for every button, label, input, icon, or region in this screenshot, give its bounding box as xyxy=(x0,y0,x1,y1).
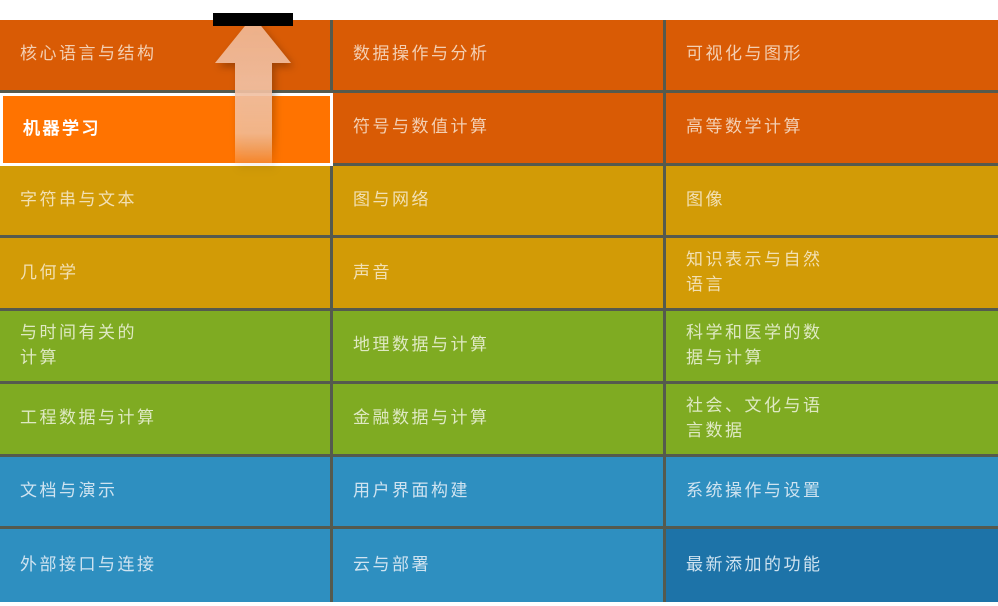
category-cell[interactable]: 机器学习 xyxy=(0,93,333,166)
category-label: 地理数据与计算 xyxy=(353,333,490,358)
screenshot-root: 核心语言与结构数据操作与分析可视化与图形机器学习符号与数值计算高等数学计算字符串… xyxy=(0,0,998,602)
category-label: 核心语言与结构 xyxy=(20,42,157,67)
category-cell[interactable]: 系统操作与设置 xyxy=(666,457,998,530)
category-cell[interactable]: 数据操作与分析 xyxy=(333,20,666,93)
category-cell[interactable]: 金融数据与计算 xyxy=(333,384,666,457)
category-cell[interactable]: 核心语言与结构 xyxy=(0,20,333,93)
category-label: 知识表示与自然 语言 xyxy=(686,248,823,298)
category-label: 可视化与图形 xyxy=(686,42,803,67)
category-label: 文档与演示 xyxy=(20,479,118,504)
category-label: 符号与数值计算 xyxy=(353,115,490,140)
category-cell[interactable]: 工程数据与计算 xyxy=(0,384,333,457)
category-cell[interactable]: 可视化与图形 xyxy=(666,20,998,93)
category-cell[interactable]: 图像 xyxy=(666,166,998,239)
category-cell[interactable]: 图与网络 xyxy=(333,166,666,239)
category-cell[interactable]: 文档与演示 xyxy=(0,457,333,530)
category-cell[interactable]: 地理数据与计算 xyxy=(333,311,666,384)
category-label: 几何学 xyxy=(20,261,79,286)
category-label: 科学和医学的数 据与计算 xyxy=(686,321,823,371)
category-label: 工程数据与计算 xyxy=(20,406,157,431)
category-cell[interactable]: 字符串与文本 xyxy=(0,166,333,239)
category-cell[interactable]: 云与部署 xyxy=(333,529,666,602)
category-cell[interactable]: 知识表示与自然 语言 xyxy=(666,238,998,311)
category-label: 数据操作与分析 xyxy=(353,42,490,67)
category-label: 机器学习 xyxy=(23,117,101,142)
category-cell[interactable]: 用户界面构建 xyxy=(333,457,666,530)
category-grid: 核心语言与结构数据操作与分析可视化与图形机器学习符号与数值计算高等数学计算字符串… xyxy=(0,20,998,602)
category-label: 字符串与文本 xyxy=(20,188,137,213)
category-cell[interactable]: 外部接口与连接 xyxy=(0,529,333,602)
category-label: 金融数据与计算 xyxy=(353,406,490,431)
category-label: 社会、文化与语 言数据 xyxy=(686,394,823,444)
category-cell[interactable]: 最新添加的功能 xyxy=(666,529,998,602)
category-label: 云与部署 xyxy=(353,553,431,578)
category-label: 系统操作与设置 xyxy=(686,479,823,504)
category-label: 最新添加的功能 xyxy=(686,553,823,578)
category-label: 声音 xyxy=(353,261,392,286)
category-label: 外部接口与连接 xyxy=(20,553,157,578)
category-cell[interactable]: 声音 xyxy=(333,238,666,311)
category-cell[interactable]: 科学和医学的数 据与计算 xyxy=(666,311,998,384)
category-label: 图与网络 xyxy=(353,188,431,213)
category-cell[interactable]: 符号与数值计算 xyxy=(333,93,666,166)
category-label: 用户界面构建 xyxy=(353,479,470,504)
category-label: 高等数学计算 xyxy=(686,115,803,140)
category-cell[interactable]: 高等数学计算 xyxy=(666,93,998,166)
category-cell[interactable]: 几何学 xyxy=(0,238,333,311)
category-label: 图像 xyxy=(686,188,725,213)
category-cell[interactable]: 社会、文化与语 言数据 xyxy=(666,384,998,457)
category-cell[interactable]: 与时间有关的 计算 xyxy=(0,311,333,384)
category-label: 与时间有关的 计算 xyxy=(20,321,137,371)
